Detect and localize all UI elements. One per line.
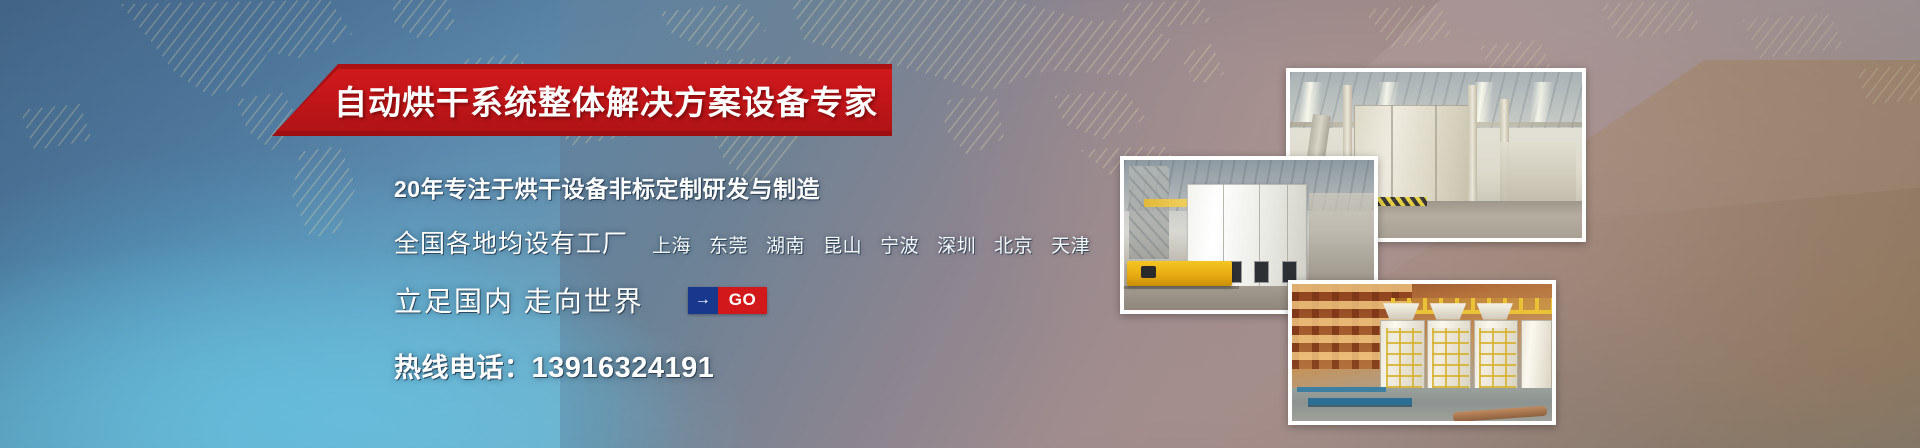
city-item-shenzhen: 深圳 xyxy=(937,231,976,258)
headline-ribbon: 自动烘干系统整体解决方案设备专家 xyxy=(272,64,892,136)
slogan-text: 立足国内 走向世界 xyxy=(394,280,644,320)
photo-rail xyxy=(1124,286,1239,289)
city-item-hunan: 湖南 xyxy=(766,231,805,258)
photo-cage xyxy=(1432,328,1468,388)
tagline-text: 20年专注于烘干设备非标定制研发与制造 xyxy=(394,170,1114,204)
city-item-dongguan: 东莞 xyxy=(709,231,748,258)
phone-row: 热线电话： 13916324191 xyxy=(394,346,1114,385)
phone-label: 热线电话： xyxy=(394,346,532,385)
city-item-ningbo: 宁波 xyxy=(880,231,919,258)
photo-oven-row-railings xyxy=(1288,280,1556,425)
photo-inner xyxy=(1292,284,1552,421)
photo-truss xyxy=(1129,166,1169,259)
photo-oven xyxy=(1521,320,1552,391)
city-item-beijing: 北京 xyxy=(994,231,1033,258)
go-button-label: GO xyxy=(718,287,767,314)
factory-row: 全国各地均设有工厂 上海 东莞 湖南 昆山 宁波 深圳 北京 天津 xyxy=(394,224,1114,260)
photo-duct xyxy=(1308,114,1332,159)
slogan-row: 立足国内 走向世界 → GO xyxy=(394,280,1114,320)
phone-number: 13916324191 xyxy=(532,352,715,385)
photo-background-machine xyxy=(1309,193,1374,286)
headline-text: 自动烘干系统整体解决方案设备专家 xyxy=(334,64,884,136)
photo-bench xyxy=(1297,387,1385,392)
photo-content xyxy=(1292,284,1552,421)
factory-label: 全国各地均设有工厂 xyxy=(394,224,628,260)
copy-block: 20年专注于烘干设备非标定制研发与制造 全国各地均设有工厂 上海 东莞 湖南 昆… xyxy=(394,170,1114,385)
city-item-kunshan: 昆山 xyxy=(823,231,862,258)
photo-cage xyxy=(1479,328,1515,388)
city-item-tianjin: 天津 xyxy=(1051,231,1090,258)
city-list: 上海 东莞 湖南 昆山 宁波 深圳 北京 天津 xyxy=(652,231,1090,258)
photo-cage xyxy=(1386,328,1422,388)
go-button[interactable]: → GO xyxy=(688,287,767,314)
photo-vent xyxy=(1254,261,1269,284)
arrow-right-icon: → xyxy=(688,287,718,314)
photo-hood xyxy=(1430,303,1466,319)
photo-bench xyxy=(1308,398,1412,405)
photo-transfer-cart xyxy=(1127,261,1232,287)
photo-background-machine xyxy=(1500,142,1576,208)
photo-column xyxy=(1468,85,1477,218)
promo-banner: 自动烘干系统整体解决方案设备专家 20年专注于烘干设备非标定制研发与制造 全国各… xyxy=(0,0,1920,448)
photo-hood xyxy=(1477,303,1513,319)
city-item-shanghai: 上海 xyxy=(652,231,691,258)
